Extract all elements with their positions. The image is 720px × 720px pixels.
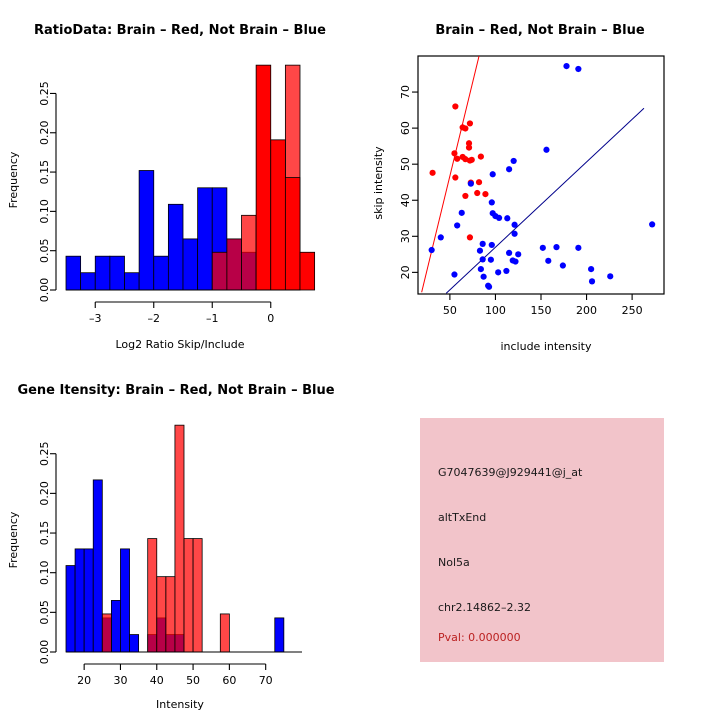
scatter-point-blue bbox=[545, 258, 551, 264]
y-axis-tick-label: 20 bbox=[399, 265, 412, 279]
scatter-point-blue bbox=[588, 266, 594, 272]
hist-bar-blue bbox=[125, 273, 140, 290]
hist-bar-blue bbox=[183, 239, 198, 290]
scatter-point-red bbox=[467, 234, 473, 240]
hist-bar-blue bbox=[66, 256, 81, 290]
scatter-point-red bbox=[466, 144, 472, 150]
scatter-point-blue bbox=[540, 245, 546, 251]
x-axis-tick-label: –1 bbox=[206, 312, 219, 325]
hist-bar-red bbox=[212, 252, 227, 290]
scatter-point-red bbox=[452, 103, 458, 109]
x-axis-tick-label: 60 bbox=[222, 674, 236, 687]
y-axis-tick-label: 0.05 bbox=[38, 238, 51, 262]
hist-bar-red bbox=[102, 614, 111, 652]
scatter-xlabel: include intensity bbox=[500, 340, 592, 353]
hist-bar-red bbox=[148, 539, 157, 652]
scatter-point-red bbox=[469, 157, 475, 163]
hist-bar-blue bbox=[84, 549, 93, 652]
hist-bar-blue bbox=[95, 256, 110, 290]
scatter-point-red bbox=[454, 156, 460, 162]
scatter-point-red bbox=[478, 154, 484, 160]
hist-bar-red bbox=[242, 215, 257, 290]
scatter-point-blue bbox=[496, 215, 502, 221]
x-axis-tick-label: 250 bbox=[622, 304, 643, 317]
y-axis-tick-label: 30 bbox=[399, 229, 412, 243]
scatter-point-blue bbox=[459, 210, 465, 216]
scatter-point-blue bbox=[468, 181, 474, 187]
scatter-point-blue bbox=[503, 268, 509, 274]
scatter-point-blue bbox=[506, 250, 512, 256]
hist-bar-blue bbox=[139, 170, 154, 290]
info-line-gene-symbol: Nol5a bbox=[438, 556, 470, 569]
hist-bar-red bbox=[157, 577, 166, 652]
scatter-point-red bbox=[467, 120, 473, 126]
scatter-point-blue bbox=[511, 158, 517, 164]
scatter-point-blue bbox=[511, 222, 517, 228]
x-axis-tick-label: 20 bbox=[77, 674, 91, 687]
panel-gene-intensity-histogram: Gene Itensity: Brain – Red, Not Brain – … bbox=[0, 360, 360, 720]
scatter-point-blue bbox=[480, 241, 486, 247]
scatter-point-blue bbox=[589, 278, 595, 284]
x-axis-tick-label: 50 bbox=[443, 304, 457, 317]
panel-ratio-histogram: RatioData: Brain – Red, Not Brain – Blue… bbox=[0, 0, 360, 360]
scatter-inner bbox=[422, 56, 656, 293]
hist-bar-red bbox=[300, 252, 315, 290]
y-axis-tick-label: 0.15 bbox=[38, 160, 51, 185]
hist-bar-blue bbox=[130, 635, 139, 652]
scatter-point-blue bbox=[553, 244, 559, 250]
scatter-point-blue bbox=[490, 171, 496, 177]
panel-intensity-scatter: Brain – Red, Not Brain – Blue 2030405060… bbox=[360, 0, 720, 360]
hist-bar-red bbox=[193, 539, 202, 652]
hist-bar-blue bbox=[75, 549, 84, 652]
scatter-point-blue bbox=[512, 258, 518, 264]
intensity-hist-title: Gene Itensity: Brain – Red, Not Brain – … bbox=[17, 383, 334, 398]
x-axis-tick-label: 200 bbox=[576, 304, 597, 317]
scatter-point-blue bbox=[489, 242, 495, 248]
ratio-hist-xlabel: Log2 Ratio Skip/Include bbox=[115, 338, 244, 351]
scatter-point-blue bbox=[478, 266, 484, 272]
scatter-point-blue bbox=[515, 251, 521, 257]
y-axis-tick-label: 40 bbox=[399, 193, 412, 207]
scatter-point-blue bbox=[495, 269, 501, 275]
hist-bar-blue bbox=[168, 204, 183, 290]
info-line-probe-id: G7047639@J929441@j_at bbox=[438, 466, 582, 479]
x-axis-tick-label: 70 bbox=[259, 674, 273, 687]
y-axis-tick-label: 0.00 bbox=[38, 640, 51, 665]
y-axis-tick-label: 0.10 bbox=[38, 199, 51, 224]
scatter-point-blue bbox=[438, 234, 444, 240]
notbrain-fit-line bbox=[446, 108, 644, 293]
scatter-point-red bbox=[452, 174, 458, 180]
y-axis-tick-label: 70 bbox=[399, 85, 412, 99]
intensity-hist-ylabel: Frequency bbox=[7, 511, 20, 568]
y-axis-tick-label: 0.20 bbox=[38, 121, 51, 146]
y-axis-tick-label: 50 bbox=[399, 157, 412, 171]
scatter-point-red bbox=[462, 193, 468, 199]
scatter-point-blue bbox=[488, 257, 494, 263]
hist-bar-blue bbox=[66, 566, 75, 652]
scatter-point-blue bbox=[506, 166, 512, 172]
intensity-hist-xlabel: Intensity bbox=[156, 698, 204, 711]
scatter-point-blue bbox=[560, 262, 566, 268]
scatter-point-red bbox=[482, 191, 488, 197]
scatter-point-blue bbox=[429, 247, 435, 253]
scatter-point-blue bbox=[511, 231, 517, 237]
hist-bar-blue bbox=[110, 256, 125, 290]
scatter-point-red bbox=[476, 179, 482, 185]
x-axis-tick-label: 50 bbox=[186, 674, 200, 687]
x-axis-tick-label: –3 bbox=[89, 312, 102, 325]
y-axis-tick-label: 0.25 bbox=[38, 81, 51, 106]
hist-bar-red bbox=[285, 178, 300, 290]
scatter-point-blue bbox=[563, 63, 569, 69]
hist-bar-red bbox=[175, 425, 184, 652]
scatter-point-blue bbox=[477, 248, 483, 254]
y-axis-tick-label: 0.25 bbox=[38, 441, 51, 466]
y-axis-tick-label: 60 bbox=[399, 121, 412, 135]
scatter-point-blue bbox=[451, 271, 457, 277]
scatter-point-blue bbox=[481, 274, 487, 280]
y-axis-tick-label: 0.00 bbox=[38, 278, 51, 303]
y-axis-tick-label: 0.05 bbox=[38, 600, 51, 625]
ratio-hist-ylabel: Frequency bbox=[7, 151, 20, 208]
x-axis-tick-label: 30 bbox=[113, 674, 127, 687]
info-line-locus: chr2.14862–2.32 bbox=[438, 601, 531, 614]
hist-bar-blue bbox=[198, 188, 213, 290]
hist-bar-blue bbox=[111, 600, 120, 652]
scatter-point-red bbox=[462, 125, 468, 131]
scatter-point-blue bbox=[480, 256, 486, 262]
scatter-ylabel: skip intensity bbox=[372, 146, 385, 220]
y-axis-tick-label: 0.20 bbox=[38, 481, 51, 506]
info-line-pvalue: Pval: 0.000000 bbox=[438, 631, 521, 644]
y-axis-tick-label: 0.10 bbox=[38, 560, 51, 585]
hist-bar-red bbox=[256, 65, 271, 290]
gene-info-panel: G7047639@J929441@j_at altTxEnd Nol5a chr… bbox=[420, 418, 664, 662]
hist-bar-red bbox=[166, 577, 175, 652]
hist-bar-blue bbox=[93, 480, 102, 652]
y-axis-tick-label: 0.15 bbox=[38, 521, 51, 546]
scatter-point-blue bbox=[575, 66, 581, 72]
hist-bar-blue bbox=[154, 256, 169, 290]
x-axis-tick-label: 150 bbox=[531, 304, 552, 317]
scatter-point-blue bbox=[543, 147, 549, 153]
scatter-point-blue bbox=[454, 222, 460, 228]
hist-bar-blue bbox=[120, 549, 129, 652]
scatter-point-blue bbox=[504, 215, 510, 221]
scatter-point-red bbox=[474, 190, 480, 196]
scatter-point-blue bbox=[575, 245, 581, 251]
scatter-point-blue bbox=[649, 221, 655, 227]
x-axis-tick-label: –2 bbox=[148, 312, 161, 325]
scatter-point-red bbox=[429, 170, 435, 176]
scatter-point-blue bbox=[607, 273, 613, 279]
hist-bar-red bbox=[184, 539, 193, 652]
ratio-hist-title: RatioData: Brain – Red, Not Brain – Blue bbox=[34, 23, 326, 38]
scatter-point-blue bbox=[486, 284, 492, 290]
figure-canvas: RatioData: Brain – Red, Not Brain – Blue… bbox=[0, 0, 720, 720]
x-axis-tick-label: 40 bbox=[150, 674, 164, 687]
hist-bar-red bbox=[227, 239, 242, 290]
hist-bar-red bbox=[271, 140, 286, 290]
hist-bar-red bbox=[220, 614, 229, 652]
scatter-point-red bbox=[451, 150, 457, 156]
scatter-title: Brain – Red, Not Brain – Blue bbox=[435, 23, 644, 38]
x-axis-tick-label: 0 bbox=[267, 312, 274, 325]
hist-bar-blue bbox=[81, 273, 96, 290]
scatter-point-blue bbox=[489, 199, 495, 205]
info-line-event-type: altTxEnd bbox=[438, 511, 486, 524]
x-axis-tick-label: 100 bbox=[485, 304, 506, 317]
hist-bar-blue bbox=[275, 618, 284, 652]
